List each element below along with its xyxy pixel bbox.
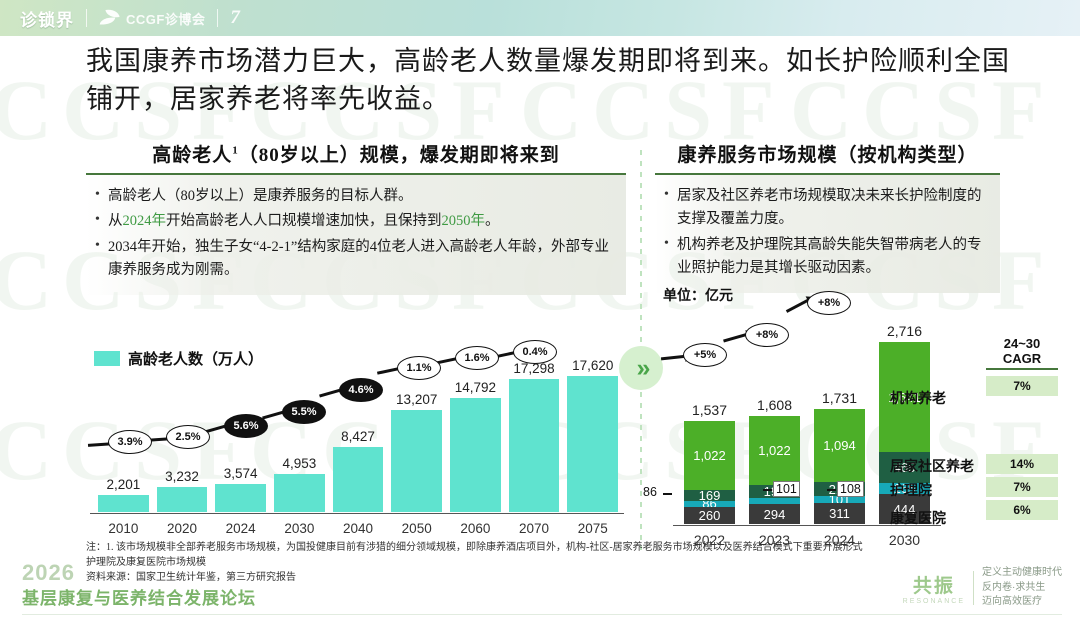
- resonance-logo: 共振 RESONANCE: [903, 571, 965, 605]
- tagline-1: 定义主动健康时代: [982, 566, 1062, 581]
- cagr-value-rehab-hospital: 6%: [986, 500, 1058, 520]
- growth-bubble: +5%: [683, 343, 727, 367]
- footnote-line-1: 注：1. 该市场规模非全部养老服务市场规模，为国投健康目前有涉猎的细分领域规模，…: [86, 540, 863, 555]
- x-tick-label: 2050: [387, 521, 446, 536]
- bar: [567, 376, 617, 512]
- stacked-bar-column: 1,5371,02216986260: [677, 402, 742, 524]
- footer-sponsor: 共振 RESONANCE 定义主动健康时代 反内卷·求共生 迈向高效医疗: [903, 566, 1062, 610]
- bar-column: 17,620: [563, 358, 622, 512]
- cagr-bubble: 4.6%: [339, 378, 383, 402]
- resonance-logo-cn: 共振: [903, 571, 965, 598]
- stack-segment-3: 260: [684, 507, 735, 524]
- divider: [973, 571, 974, 605]
- growth-bubble: +8%: [807, 291, 851, 315]
- leader-line: [763, 489, 772, 491]
- slide-number: 7: [230, 7, 240, 29]
- bar-column: 13,207: [387, 392, 446, 512]
- x-tick-label: 2070: [505, 521, 564, 536]
- leader-line: [827, 489, 836, 491]
- bar-column: 3,574: [211, 466, 270, 512]
- leader-label: 86: [641, 485, 659, 499]
- bar-value-label: 4,953: [282, 456, 316, 471]
- title-text: 我国康养市场潜力巨大，高龄老人数量爆发期即将到来。如长护险顺利全国铺开，居家养老…: [86, 42, 1026, 119]
- bar-column: 3,232: [153, 469, 212, 512]
- footer-brand: 2026 基层康复与医养结合发展论坛: [22, 560, 256, 609]
- bullet-part: 开始高龄老人人口规模增速加快，且保持到: [166, 213, 442, 229]
- stacked-bar-column: 1,7311,094218101311: [807, 390, 872, 524]
- cagr-bubble: 2.5%: [166, 425, 210, 449]
- cagr-bubble-label: 4.6%: [339, 378, 383, 402]
- cagr-bubble: 5.6%: [224, 414, 268, 438]
- bar-value-label: 14,792: [455, 380, 496, 395]
- cagr-value-home-community: 14%: [986, 454, 1058, 474]
- cagr-bubble-label: 2.5%: [166, 425, 210, 449]
- list-item: 从2024年开始高龄老人人口规模增速加快，且保持到2050年。: [92, 210, 616, 233]
- list-item: 居家及社区养老市场规模取决未来长护险制度的支撑及覆盖力度。: [661, 185, 990, 232]
- bar-value-label: 8,427: [341, 429, 375, 444]
- bar-column: 8,427: [329, 429, 388, 512]
- stack-segment-1: 169: [684, 490, 735, 501]
- cagr-bubble: 5.5%: [282, 400, 326, 424]
- x-tick-label: 2024: [211, 521, 270, 536]
- chart-elderly-population: 高龄老人数（万人） 2,2013,2323,5744,9538,42713,20…: [86, 330, 626, 540]
- leader-label: 108: [837, 481, 864, 497]
- bar-value-label: 2,201: [106, 477, 140, 492]
- bar: [450, 398, 500, 512]
- leader-line: [663, 493, 672, 495]
- list-item: 2034年开始，独生子女“4-2-1”结构家庭的4位老人进入高龄老人年龄，外部专…: [92, 236, 616, 283]
- bar-value-label: 13,207: [396, 392, 437, 407]
- bar: [333, 447, 383, 512]
- x-tick-label: 2010: [94, 521, 153, 536]
- growth-bubble-label: +5%: [683, 343, 727, 367]
- bar-total-label: 1,608: [757, 397, 792, 413]
- stack-segment-3: 294: [749, 504, 800, 524]
- bar-total-label: 1,731: [822, 390, 857, 406]
- cagr-bubble-label: 1.1%: [397, 356, 441, 380]
- cagr-bubble-label: 1.6%: [455, 346, 499, 370]
- category-label-nursing-home: 护理院: [890, 480, 932, 500]
- heading-pre: 高龄老人: [152, 145, 232, 166]
- category-label-rehab-hospital: 康复医院: [890, 508, 946, 528]
- cagr-period: 24~30: [986, 336, 1058, 351]
- x-tick-label: 2040: [329, 521, 388, 536]
- resonance-logo-en: RESONANCE: [903, 598, 965, 605]
- left-bullet-box: 高龄老人（80岁以上）是康养服务的目标人群。 从2024年开始高龄老人人口规模增…: [86, 175, 626, 295]
- footer-forum-name: 基层康复与医养结合发展论坛: [22, 584, 256, 609]
- bar: [509, 379, 559, 512]
- stack-segment-2: [749, 498, 800, 505]
- bar-column: 2,201: [94, 477, 153, 512]
- footer-year: 2026: [22, 560, 256, 586]
- stack-segment-3: 311: [814, 503, 865, 524]
- growth-bubble: +8%: [745, 323, 789, 347]
- cagr-value-nursing-home: 7%: [986, 477, 1058, 497]
- cagr-header: CAGR: [986, 351, 1058, 366]
- ccgf-logo: CCGF诊博会: [99, 9, 205, 28]
- stack: 1,094218101311: [814, 409, 865, 524]
- bullet-part: 从: [108, 213, 123, 229]
- bar-total-label: 1,537: [692, 402, 727, 418]
- right-panel-heading: 康养服务市场规模（按机构类型）: [655, 140, 1000, 167]
- tagline-3: 迈向高效医疗: [982, 595, 1062, 610]
- stacked-bar-column: 1,6081,022192294: [742, 397, 807, 524]
- left-panel-heading: 高龄老人1（80岁以上）规模，爆发期即将来到: [86, 140, 626, 167]
- bar: [98, 495, 148, 512]
- bar: [215, 484, 265, 512]
- stack-segment-2: 101: [814, 496, 865, 503]
- leader-label: 101: [773, 481, 800, 497]
- bar-total-label: 2,716: [887, 323, 922, 339]
- cagr-bubble-label: 5.5%: [282, 400, 326, 424]
- bar-value-label: 3,232: [165, 469, 199, 484]
- bar-value-label: 17,620: [572, 358, 613, 373]
- divider: [86, 9, 87, 27]
- cagr-bubble: 1.6%: [455, 346, 499, 370]
- stack-segment-0: 1,022: [684, 421, 735, 489]
- bar-column: 4,953: [270, 456, 329, 512]
- bar: [157, 487, 207, 512]
- x-axis-labels: 201020202024203020402050206020702075: [94, 521, 622, 536]
- footer-taglines: 定义主动健康时代 反内卷·求共生 迈向高效医疗: [982, 566, 1062, 610]
- cagr-bubble: 0.4%: [513, 340, 557, 364]
- bullet-part: 。: [485, 213, 500, 229]
- x-tick-label: 2030: [270, 521, 329, 536]
- cagr-rule: [986, 368, 1058, 370]
- cagr-bubble-label: 3.9%: [108, 430, 152, 454]
- tagline-2: 反内卷·求共生: [982, 581, 1062, 596]
- page-title: 我国康养市场潜力巨大，高龄老人数量爆发期即将到来。如长护险顺利全国铺开，居家养老…: [86, 42, 1026, 119]
- cagr-bubble: 3.9%: [108, 430, 152, 454]
- cagr-value-institutional: 7%: [986, 376, 1058, 396]
- bar-column: 14,792: [446, 380, 505, 512]
- bullet-highlight-2024: 2024年: [123, 213, 167, 229]
- x-axis: [90, 513, 624, 515]
- stack-segment-0: 1,022: [749, 416, 800, 484]
- ccgf-label: CCGF诊博会: [126, 9, 205, 28]
- stack-segment-0: 1,094: [814, 409, 865, 482]
- growth-bubble-label: +8%: [807, 291, 851, 315]
- stack: 1,022192294: [749, 416, 800, 524]
- list-item: 高龄老人（80岁以上）是康养服务的目标人群。: [92, 185, 616, 208]
- divider: [217, 9, 218, 27]
- top-banner: 诊锁界 CCGF诊博会 7: [0, 0, 1080, 36]
- list-item: 机构养老及护理院其高龄失能失智带病老人的专业照护能力是其增长驱动因素。: [661, 234, 990, 281]
- x-tick-label: 2060: [446, 521, 505, 536]
- right-bullet-box: 居家及社区养老市场规模取决未来长护险制度的支撑及覆盖力度。 机构养老及护理院其高…: [655, 175, 1000, 293]
- x-tick-label: 2030: [872, 532, 937, 548]
- bullet-highlight-2050: 2050年: [442, 213, 486, 229]
- cagr-bubble-label: 0.4%: [513, 340, 557, 364]
- brand-logo-zhensuojie: 诊锁界: [20, 6, 74, 31]
- cagr-bubble: 1.1%: [397, 356, 441, 380]
- x-tick-label: 2075: [563, 521, 622, 536]
- x-tick-label: 2020: [153, 521, 212, 536]
- category-label-home-community: 居家社区养老: [890, 456, 974, 476]
- right-panel: 康养服务市场规模（按机构类型） 居家及社区养老市场规模取决未来长护险制度的支撑及…: [655, 140, 1000, 293]
- left-panel: 高龄老人1（80岁以上）规模，爆发期即将来到 高龄老人（80岁以上）是康养服务的…: [86, 140, 626, 295]
- heading-post: （80岁以上）规模，爆发期即将来到: [239, 145, 560, 166]
- footer-rule: [22, 614, 1062, 615]
- cagr-bubble-label: 5.6%: [224, 414, 268, 438]
- bar: [274, 474, 324, 512]
- leaf-icon: [99, 9, 121, 27]
- chart-unit-label: 单位：亿元: [663, 285, 733, 305]
- bar-column: 17,298: [505, 361, 564, 512]
- bar: [391, 410, 441, 512]
- growth-bubble-label: +8%: [745, 323, 789, 347]
- category-label-institutional: 机构养老: [890, 388, 946, 408]
- cagr-table: 24~30 CAGR 7% 14% 7% 6%: [986, 336, 1058, 523]
- stack: 1,02216986260: [684, 421, 735, 524]
- bar-value-label: 3,574: [224, 466, 258, 481]
